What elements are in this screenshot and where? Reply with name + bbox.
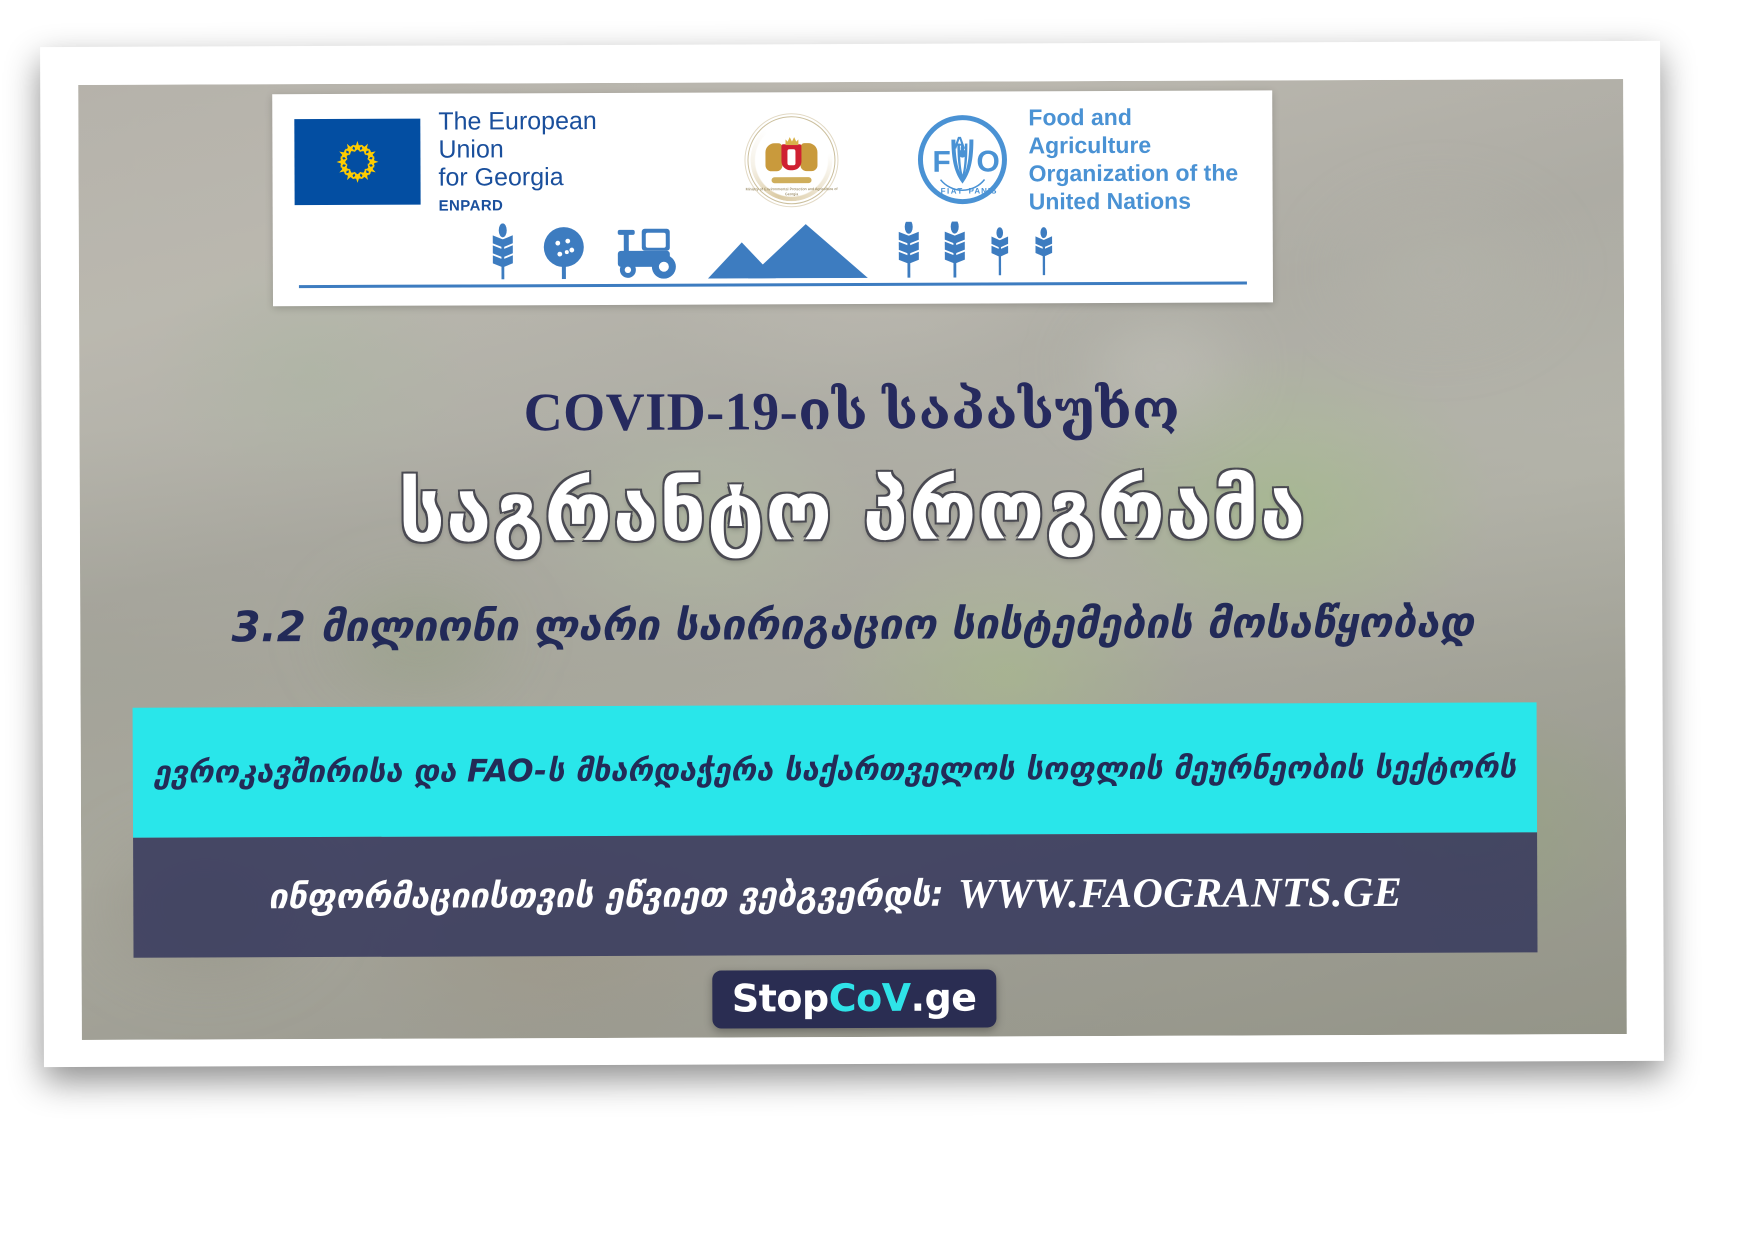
svg-text:F: F bbox=[932, 146, 950, 179]
page-title: საგრანტო პროგრამა bbox=[80, 461, 1625, 562]
seal-coat-of-arms bbox=[763, 138, 819, 182]
website-url[interactable]: WWW.FAOGRANTS.GE bbox=[958, 869, 1403, 919]
wheat-icon bbox=[490, 223, 516, 279]
seal-lion-left bbox=[765, 143, 782, 171]
website-banner[interactable]: ინფორმაციისთვის ეწვიეთ ვებგვერდს: WWW.FA… bbox=[133, 832, 1537, 957]
logo-bar: The European Union for Georgia ENPARD bbox=[272, 90, 1273, 306]
wheat-icon bbox=[896, 222, 922, 278]
seal-label: Ministry of Environmental Protection and… bbox=[746, 187, 838, 197]
fao-logo-icon: F O A FIAT PANIS bbox=[916, 113, 1008, 205]
wheat-icon bbox=[988, 221, 1012, 277]
fao-line3: United Nations bbox=[1029, 187, 1251, 216]
seal-lion-right bbox=[800, 143, 817, 171]
grant-amount-line: 3.2 მილიონი ლარი საირიგაციო სისტემების მ… bbox=[80, 597, 1625, 652]
seal-base bbox=[772, 177, 812, 183]
eu-flag-icon bbox=[294, 119, 420, 205]
tractor-icon bbox=[612, 223, 688, 279]
poster-artwork: The European Union for Georgia ENPARD bbox=[78, 79, 1627, 1040]
eu-logo-text: The European Union for Georgia ENPARD bbox=[438, 107, 658, 216]
stopcov-badge[interactable]: Stop CoV .ge bbox=[712, 969, 997, 1028]
wheat-icon bbox=[942, 222, 968, 278]
eu-line1: The European Union bbox=[438, 107, 658, 164]
svg-text:FIAT: FIAT bbox=[941, 187, 964, 196]
eu-logo-block: The European Union for Georgia ENPARD bbox=[294, 107, 658, 216]
stopcov-part-cov: CoV bbox=[829, 979, 911, 1017]
poster-page: The European Union for Georgia ENPARD bbox=[0, 0, 1754, 1256]
support-banner-text: ევროკავშირისა და FAO-ს მხარდაჭერა საქართ… bbox=[154, 749, 1517, 790]
agriculture-icon-strip bbox=[273, 218, 1273, 306]
svg-text:PANIS: PANIS bbox=[969, 186, 998, 195]
enpard-label: ENPARD bbox=[439, 198, 659, 216]
georgia-ministry-seal-icon: Ministry of Environmental Protection and… bbox=[744, 113, 838, 207]
logo-bar-divider bbox=[299, 281, 1247, 288]
mountains-icon bbox=[708, 222, 876, 279]
eu-line2: for Georgia bbox=[438, 163, 658, 192]
stopcov-part-stop: Stop bbox=[732, 979, 829, 1017]
stopcov-part-ge: .ge bbox=[911, 979, 977, 1017]
fao-line2: Organization of the bbox=[1029, 158, 1251, 187]
logo-bar-logos: The European Union for Georgia ENPARD bbox=[272, 90, 1272, 222]
fao-logo-text: Food and Agriculture Organization of the… bbox=[1028, 102, 1250, 215]
agriculture-icons bbox=[303, 214, 1243, 280]
fao-logo-block: F O A FIAT PANIS Food bbox=[916, 102, 1250, 215]
fao-line1: Food and Agriculture bbox=[1028, 102, 1250, 159]
tree-icon bbox=[536, 223, 592, 279]
seal-shield bbox=[781, 144, 801, 170]
page-headline: COVID-19-ის საპასუხო bbox=[79, 375, 1624, 445]
wheat-icon bbox=[1032, 221, 1056, 277]
svg-text:O: O bbox=[976, 145, 999, 178]
seal-crown bbox=[785, 136, 798, 145]
support-banner: ევროკავშირისა და FAO-ს მხარდაჭერა საქართ… bbox=[133, 702, 1537, 837]
website-banner-prefix: ინფორმაციისთვის ეწვიეთ ვებგვერდს: bbox=[268, 875, 944, 918]
